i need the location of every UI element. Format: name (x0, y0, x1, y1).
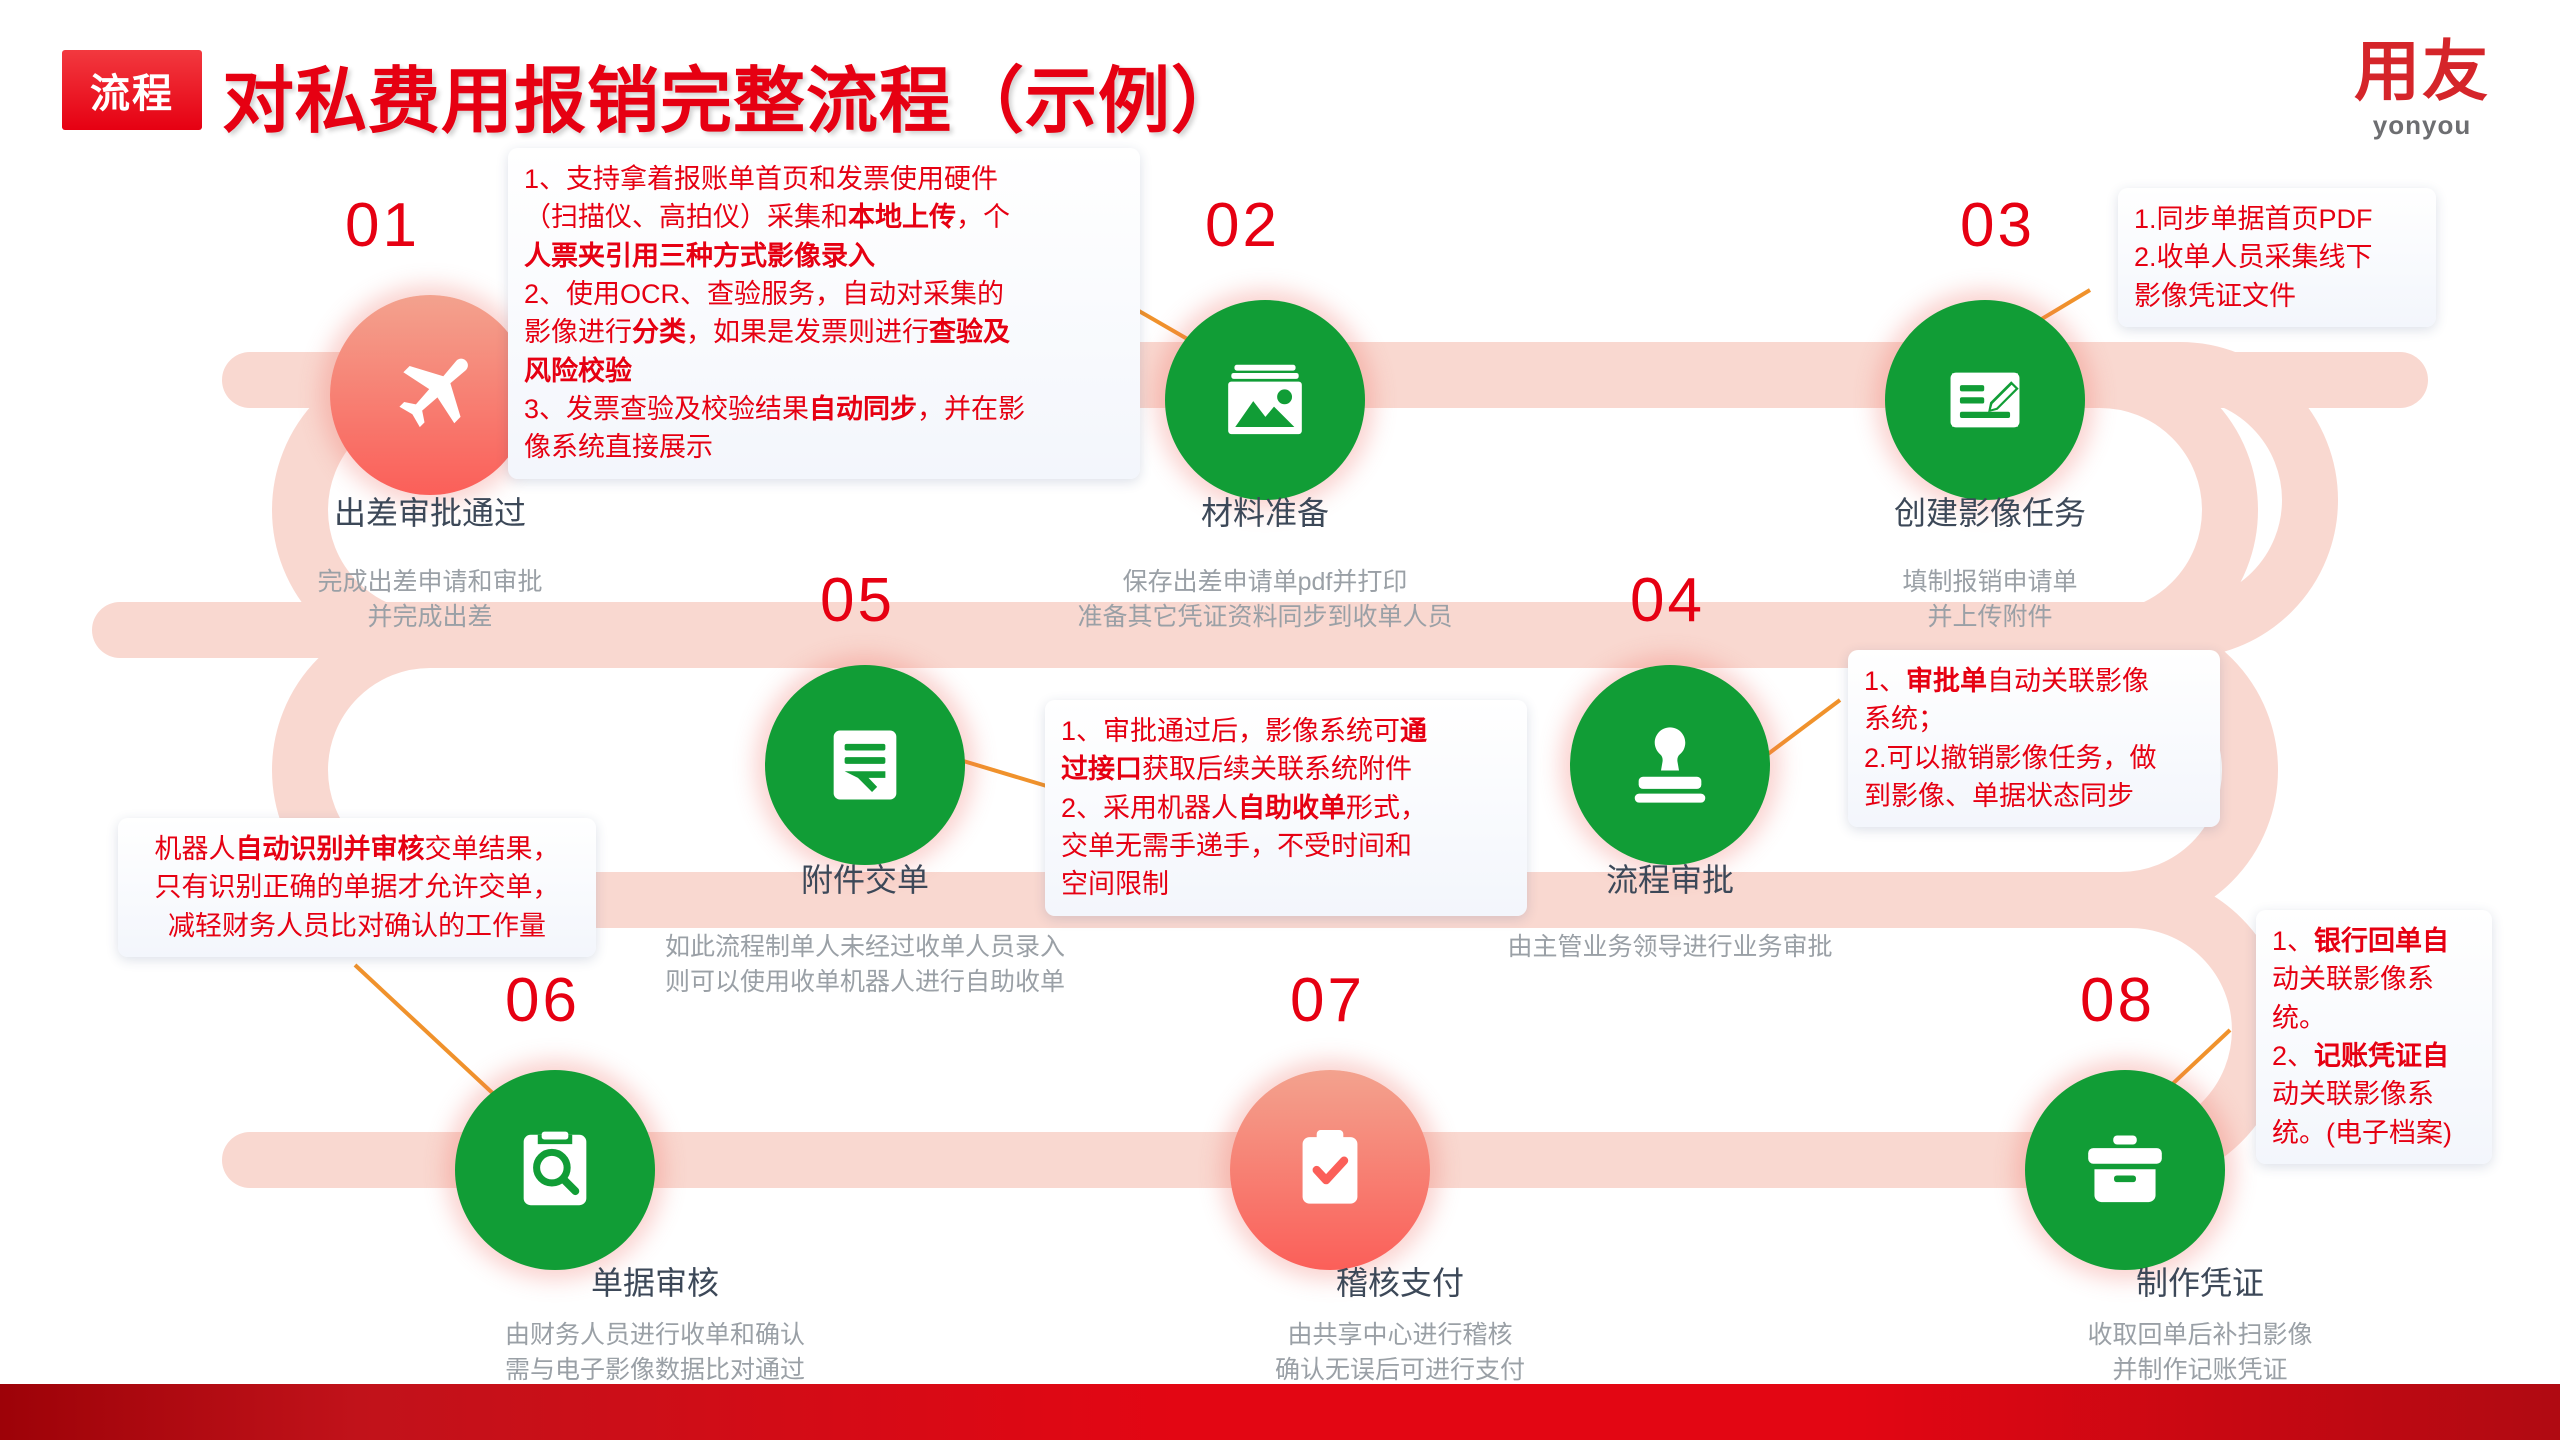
section-badge-label: 流程 (90, 61, 174, 119)
brand-logo: 用友 yonyou (2354, 38, 2490, 141)
footer-bar (0, 1384, 2560, 1440)
step-desc-08: 收取回单后补扫影像 并制作记账凭证 (1945, 1318, 2455, 1388)
step-disc-03 (1885, 300, 2085, 500)
callout-step-05-line-1: 1、审批通过后，影像系统可通 (1061, 712, 1511, 750)
callout-step-05-line-5: 空间限制 (1061, 865, 1511, 903)
step-desc-07-line-1: 由共享中心进行稽核 (1145, 1318, 1655, 1353)
form-edit-icon (1938, 353, 2032, 447)
step-desc-06-line-1: 由财务人员进行收单和确认 (400, 1318, 910, 1353)
step-number-03: 03 (1960, 195, 2035, 257)
callout-step-05-line-2: 过接口获取后续关联系统附件 (1061, 750, 1511, 788)
callout-step-08-line-6: 统。(电子档案) (2272, 1114, 2476, 1152)
step-desc-05-line-1: 如此流程制单人未经过收单人员录入 (600, 930, 1130, 965)
step-node-02[interactable] (1165, 300, 1365, 500)
step-disc-04 (1570, 665, 1770, 865)
step-desc-06: 由财务人员进行收单和确认 需与电子影像数据比对通过 (400, 1318, 910, 1388)
step-label-06: 单据审核 (400, 1258, 910, 1304)
callout-step-02-line-5: 影像进行分类，如果是发票则进行查验及 (524, 313, 1124, 351)
step-desc-01: 完成出差申请和审批 并完成出差 (180, 565, 680, 635)
callout-step-04-line-3: 2.可以撤销影像任务，做 (1864, 739, 2204, 777)
step-disc-07 (1230, 1070, 1430, 1270)
step-node-03[interactable] (1885, 300, 2085, 500)
archive-box-icon (2078, 1123, 2172, 1217)
callout-step-03-line-3: 影像凭证文件 (2134, 277, 2420, 315)
step-number-05: 05 (820, 570, 895, 632)
step-number-01: 01 (345, 195, 420, 257)
step-disc-08 (2025, 1070, 2225, 1270)
callout-step-02-line-4: 2、使用OCR、查验服务，自动对采集的 (524, 275, 1124, 313)
callout-step-06: 机器人自动识别并审核交单结果， 只有识别正确的单据才允许交单， 减轻财务人员比对… (118, 818, 596, 957)
doc-search-icon (508, 1123, 602, 1217)
callout-step-08-line-5: 动关联影像系 (2272, 1075, 2476, 1113)
step-desc-02: 保存出差申请单pdf并打印 准备其它凭证资料同步到收单人员 (915, 565, 1615, 635)
callout-step-05-line-3: 2、采用机器人自助收单形式， (1061, 789, 1511, 827)
callout-step-02-line-7: 3、发票查验及校验结果自动同步，并在影 (524, 390, 1124, 428)
callout-step-05-line-4: 交单无需手递手，不受时间和 (1061, 827, 1511, 865)
step-desc-01-line-1: 完成出差申请和审批 (180, 565, 680, 600)
step-label-02: 材料准备 (915, 488, 1615, 534)
callout-step-08: 1、银行回单自 动关联影像系 统。 2、记账凭证自 动关联影像系 统。(电子档案… (2256, 910, 2492, 1164)
callout-step-02-line-8: 像系统直接展示 (524, 428, 1124, 466)
section-badge: 流程 (62, 50, 202, 130)
step-number-04: 04 (1630, 570, 1705, 632)
step-desc-08-line-2: 并制作记账凭证 (1945, 1353, 2455, 1388)
callout-step-08-line-2: 动关联影像系 (2272, 960, 2476, 998)
step-desc-02-line-1: 保存出差申请单pdf并打印 (915, 565, 1615, 600)
step-disc-05 (765, 665, 965, 865)
step-desc-02-line-2: 准备其它凭证资料同步到收单人员 (915, 600, 1615, 635)
callout-step-08-line-1: 1、银行回单自 (2272, 922, 2476, 960)
brand-logo-en: yonyou (2354, 110, 2490, 141)
callout-step-04: 1、审批单自动关联影像 系统； 2.可以撤销影像任务，做 到影像、单据状态同步 (1848, 650, 2220, 827)
callout-step-02-line-6: 风险校验 (524, 352, 1124, 390)
step-desc-07-line-2: 确认无误后可进行支付 (1145, 1353, 1655, 1388)
callout-step-06-line-3: 减轻财务人员比对确认的工作量 (134, 907, 580, 945)
step-disc-06 (455, 1070, 655, 1270)
step-number-06: 06 (505, 970, 580, 1032)
step-desc-05: 如此流程制单人未经过收单人员录入 则可以使用收单机器人进行自助收单 (600, 930, 1130, 1000)
step-desc-07: 由共享中心进行稽核 确认无误后可进行支付 (1145, 1318, 1655, 1388)
callout-step-04-line-4: 到影像、单据状态同步 (1864, 777, 2204, 815)
step-node-04[interactable] (1570, 665, 1770, 865)
callout-step-08-line-3: 统。 (2272, 999, 2476, 1037)
step-desc-08-line-1: 收取回单后补扫影像 (1945, 1318, 2455, 1353)
step-desc-04-line-1: 由主管业务领导进行业务审批 (1430, 930, 1910, 965)
callout-step-04-line-1: 1、审批单自动关联影像 (1864, 662, 2204, 700)
step-desc-06-line-2: 需与电子影像数据比对通过 (400, 1353, 910, 1388)
step-number-08: 08 (2080, 970, 2155, 1032)
image-icon (1218, 353, 1312, 447)
callout-step-03-line-2: 2.收单人员采集线下 (2134, 238, 2420, 276)
step-node-05[interactable] (765, 665, 965, 865)
brand-logo-cn: 用友 (2354, 38, 2490, 104)
callout-step-03-line-1: 1.同步单据首页PDF (2134, 200, 2420, 238)
step-desc-03: 填制报销申请单 并上传附件 (1670, 565, 2310, 635)
step-number-02: 02 (1205, 195, 1280, 257)
clipboard-check-icon (1283, 1123, 1377, 1217)
callout-step-02: 1、支持拿着报账单首页和发票使用硬件 （扫描仪、高拍仪）采集和本地上传，个 人票… (508, 148, 1140, 479)
step-label-07: 稽核支付 (1145, 1258, 1655, 1304)
step-desc-04: 由主管业务领导进行业务审批 (1430, 930, 1910, 965)
callout-step-06-line-1: 机器人自动识别并审核交单结果， (134, 830, 580, 868)
step-desc-03-line-2: 并上传附件 (1670, 600, 2310, 635)
step-label-08: 制作凭证 (1945, 1258, 2455, 1304)
document-stack-icon (818, 718, 912, 812)
page-title: 对私费用报销完整流程（示例） (222, 42, 1244, 147)
callout-step-02-line-1: 1、支持拿着报账单首页和发票使用硬件 (524, 160, 1124, 198)
stamp-icon (1623, 718, 1717, 812)
step-label-01: 出差审批通过 (180, 488, 680, 534)
step-label-05: 附件交单 (630, 855, 1100, 901)
step-desc-01-line-2: 并完成出差 (180, 600, 680, 635)
slide-canvas: 流程 对私费用报销完整流程（示例） 用友 yonyou 01 出差审批通过 完成… (0, 0, 2560, 1440)
step-desc-03-line-1: 填制报销申请单 (1670, 565, 2310, 600)
callout-step-04-line-2: 系统； (1864, 700, 2204, 738)
airplane-icon (383, 348, 477, 442)
step-node-06[interactable] (455, 1070, 655, 1270)
step-node-07[interactable] (1230, 1070, 1430, 1270)
step-disc-01 (330, 295, 530, 495)
callout-step-06-line-2: 只有识别正确的单据才允许交单， (134, 868, 580, 906)
step-number-07: 07 (1290, 970, 1365, 1032)
step-node-01[interactable] (330, 295, 530, 495)
callout-step-03: 1.同步单据首页PDF 2.收单人员采集线下 影像凭证文件 (2118, 188, 2436, 327)
step-disc-02 (1165, 300, 1365, 500)
callout-step-05: 1、审批通过后，影像系统可通 过接口获取后续关联系统附件 2、采用机器人自助收单… (1045, 700, 1527, 916)
callout-step-08-line-4: 2、记账凭证自 (2272, 1037, 2476, 1075)
callout-step-02-line-3: 人票夹引用三种方式影像录入 (524, 237, 1124, 275)
step-label-03: 创建影像任务 (1670, 488, 2310, 534)
step-desc-05-line-2: 则可以使用收单机器人进行自助收单 (600, 965, 1130, 1000)
step-node-08[interactable] (2025, 1070, 2225, 1270)
callout-step-02-line-2: （扫描仪、高拍仪）采集和本地上传，个 (524, 198, 1124, 236)
